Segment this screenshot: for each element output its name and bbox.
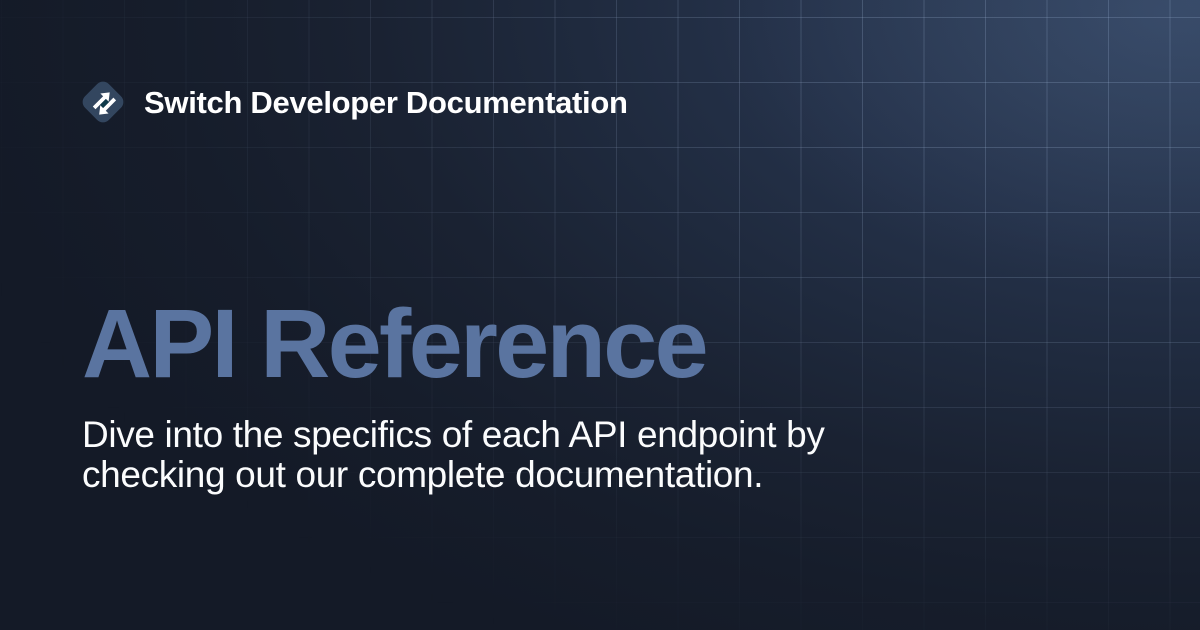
brand-header: Switch Developer Documentation [80, 78, 628, 126]
switch-swap-arrows-icon [80, 79, 126, 125]
brand-title: Switch Developer Documentation [144, 87, 628, 118]
hero-section: API Reference Dive into the specifics of… [82, 296, 942, 495]
card-content: Switch Developer Documentation API Refer… [0, 0, 1200, 630]
og-card: Switch Developer Documentation API Refer… [0, 0, 1200, 630]
page-description: Dive into the specifics of each API endp… [82, 415, 842, 495]
page-title: API Reference [82, 296, 942, 391]
